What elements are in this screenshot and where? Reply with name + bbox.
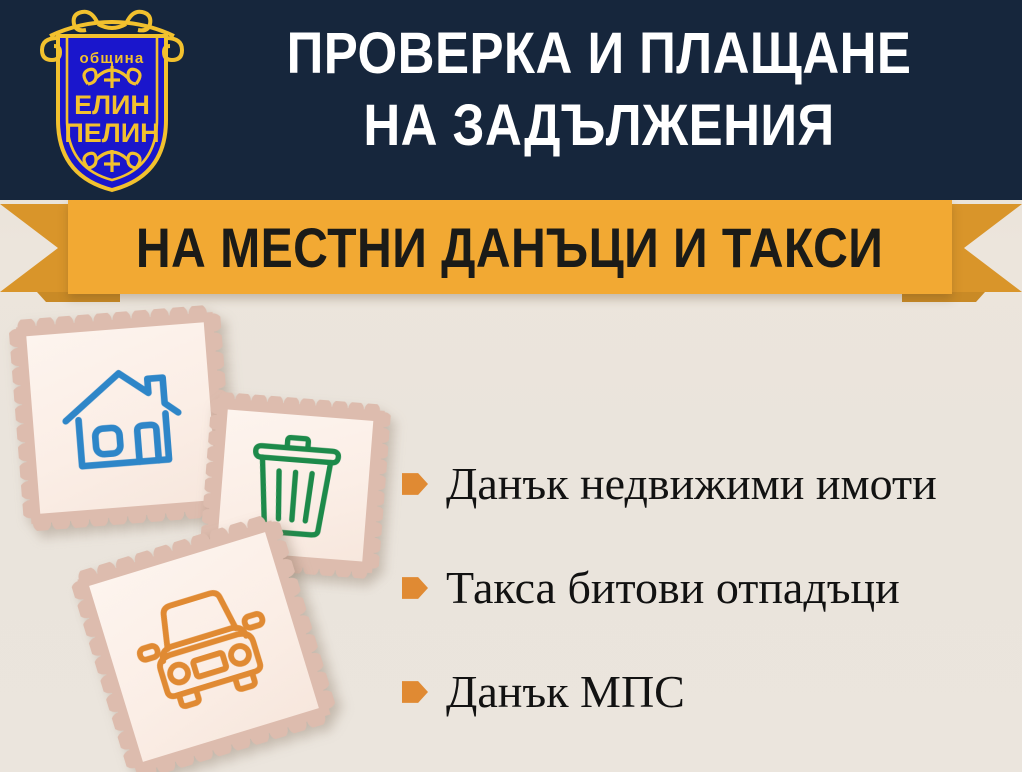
ribbon-label: НА МЕСТНИ ДАНЪЦИ И ТАКСИ: [136, 215, 884, 280]
page-title: ПРОВЕРКА И ПЛАЩАНЕ НА ЗАДЪЛЖЕНИЯ: [236, 18, 963, 162]
arrow-bullet-icon: [402, 575, 428, 601]
header-banner: община ЕЛИН ПЕЛИН ПРОВЕРКА И ПЛАЩАНЕ НА: [0, 0, 1022, 200]
stamp-scalloped-edge: [8, 304, 236, 532]
stamp-card-property: [8, 304, 236, 532]
list-item-label: Такса битови отпадъци: [446, 564, 900, 612]
list-item[interactable]: Данък МПС: [402, 640, 1012, 744]
ribbon-banner: НА МЕСТНИ ДАНЪЦИ И ТАКСИ: [0, 196, 1022, 306]
poster-canvas: община ЕЛИН ПЕЛИН ПРОВЕРКА И ПЛАЩАНЕ НА: [0, 0, 1022, 772]
stamp-paper: [89, 532, 319, 762]
arrow-bullet-icon: [402, 471, 428, 497]
crest-name-line-1: ЕЛИН: [74, 90, 150, 120]
list-item-label: Данък недвижими имоти: [446, 460, 937, 508]
crest-name-line-2: ПЕЛИН: [64, 118, 159, 148]
tax-type-list: Данък недвижими имоти Такса битови отпад…: [402, 432, 1012, 744]
municipality-crest-logo: община ЕЛИН ПЕЛИН: [36, 8, 188, 194]
ribbon-band: НА МЕСТНИ ДАНЪЦИ И ТАКСИ: [68, 200, 952, 294]
list-item-label: Данък МПС: [446, 668, 685, 716]
list-item[interactable]: Такса битови отпадъци: [402, 536, 1012, 640]
arrow-bullet-icon: [402, 679, 428, 705]
stamp-paper: [26, 322, 217, 513]
house-icon: [53, 349, 191, 487]
crest-top-label: община: [80, 50, 145, 67]
list-item[interactable]: Данък недвижими имоти: [402, 432, 1012, 536]
car-icon: [121, 564, 286, 729]
